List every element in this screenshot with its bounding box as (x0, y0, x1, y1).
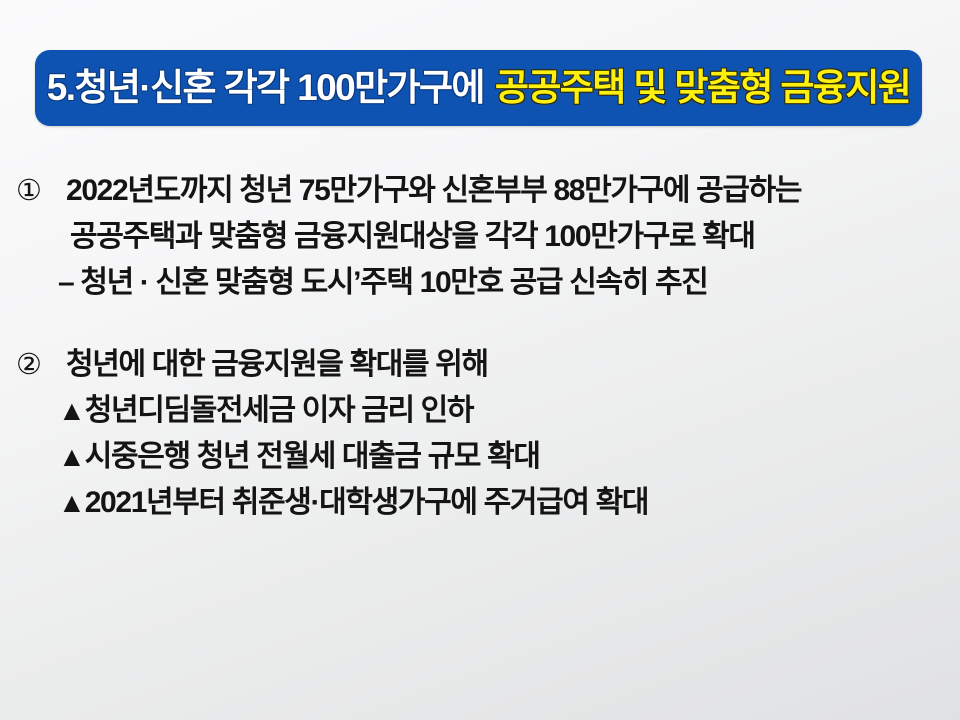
slide-body: ①2022년도까지 청년 75만가구와 신혼부부 88만가구에 공급하는 공공주… (0, 168, 960, 526)
triangle-bullet-icon: ▲ (58, 487, 85, 518)
title-highlight-text: 공공주택 및 맞춤형 금융지원 (495, 67, 910, 108)
item-1-line-1-text: 2022년도까지 청년 75만가구와 신혼부부 88만가구에 공급하는 (66, 174, 801, 207)
title-plain-text: 5.청년·신혼 각각 100만가구에 (47, 67, 484, 108)
item-2-bullet-3-text: 2021년부터 취준생·대학생가구에 주거급여 확대 (85, 486, 648, 519)
item-2-bullet-1: ▲청년디딤돌전세금 이자 금리 인하 (0, 388, 960, 434)
circled-number-2-icon: ② (12, 342, 46, 388)
item-1-line-2-text: 공공주택과 맞춤형 금융지원대상을 각각 100만가구로 확대 (70, 220, 755, 253)
item-2-bullet-2: ▲시중은행 청년 전월세 대출금 규모 확대 (0, 434, 960, 480)
item-2-bullet-3: ▲2021년부터 취준생·대학생가구에 주거급여 확대 (0, 480, 960, 526)
item-2-line-1: ②청년에 대한 금융지원을 확대를 위해 (0, 342, 960, 388)
item-2-bullet-2-text: 시중은행 청년 전월세 대출금 규모 확대 (85, 440, 540, 473)
triangle-bullet-icon: ▲ (58, 441, 85, 472)
item-1-line-3-text: – 청년 · 신혼 맞춤형 도시’주택 10만호 공급 신속히 추진 (58, 266, 708, 299)
body-item-2: ②청년에 대한 금융지원을 확대를 위해 ▲청년디딤돌전세금 이자 금리 인하 … (0, 342, 960, 526)
body-item-1: ①2022년도까지 청년 75만가구와 신혼부부 88만가구에 공급하는 공공주… (0, 168, 960, 306)
item-1-line-2: 공공주택과 맞춤형 금융지원대상을 각각 100만가구로 확대 (0, 214, 960, 260)
item-2-bullet-1-text: 청년디딤돌전세금 이자 금리 인하 (85, 394, 473, 427)
item-1-line-3: – 청년 · 신혼 맞춤형 도시’주택 10만호 공급 신속히 추진 (0, 260, 960, 306)
slide-title-bar: 5.청년·신혼 각각 100만가구에공공주택 및 맞춤형 금융지원 (35, 50, 922, 126)
triangle-bullet-icon: ▲ (58, 395, 85, 426)
slide-title: 5.청년·신혼 각각 100만가구에공공주택 및 맞춤형 금융지원 (47, 69, 910, 106)
item-2-line-1-text: 청년에 대한 금융지원을 확대를 위해 (66, 348, 488, 381)
presentation-slide: 5.청년·신혼 각각 100만가구에공공주택 및 맞춤형 금융지원 ①2022년… (0, 0, 960, 720)
circled-number-1-icon: ① (12, 168, 46, 214)
item-1-line-1: ①2022년도까지 청년 75만가구와 신혼부부 88만가구에 공급하는 (0, 168, 960, 214)
